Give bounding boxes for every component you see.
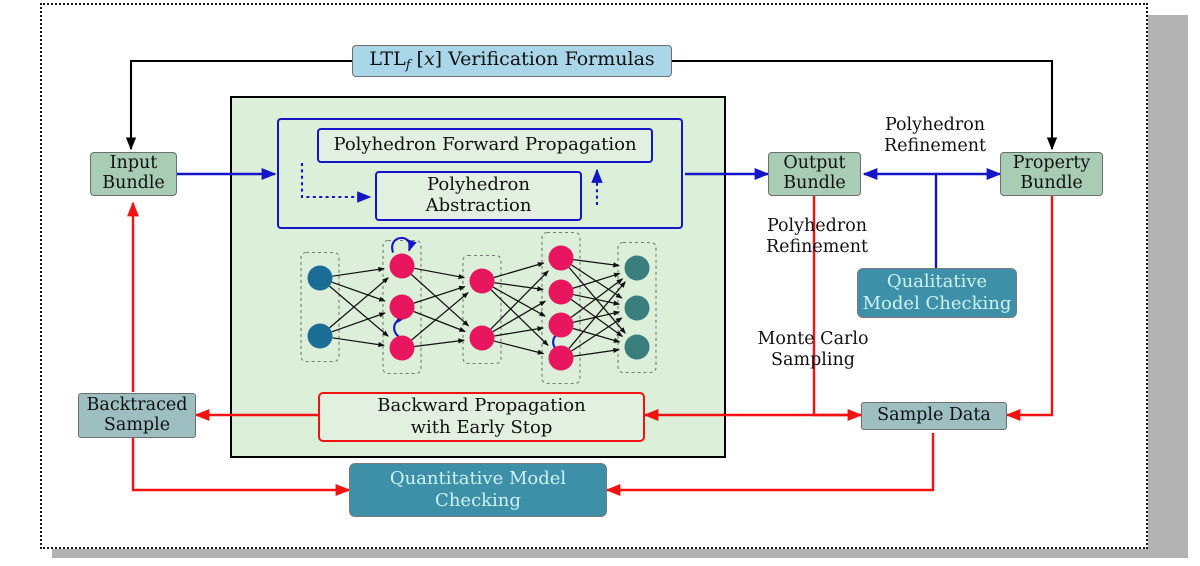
output-bundle-line2: Bundle [783,174,846,194]
forward-propagation-label: Polyhedron Forward Propagation [333,135,636,156]
property-bundle-line1: Property [1013,154,1091,174]
abstraction-line1: Polyhedron [427,175,530,196]
backward-propagation-line2: with Early Stop [411,417,553,439]
input-bundle-line2: Bundle [102,174,165,194]
mc-line1: Monte Carlo [738,329,888,350]
sample-data-box[interactable]: Sample Data [861,402,1007,430]
label-polyhedron-refinement-top: Polyhedron Refinement [860,115,1010,158]
backtraced-sample-line1: Backtraced [87,396,188,416]
pr-top-line2: Refinement [860,136,1010,157]
label-monte-carlo-sampling: Monte Carlo Sampling [738,329,888,372]
qualitative-model-checking-box[interactable]: Qualitative Model Checking [857,268,1017,318]
input-bundle-line1: Input [110,154,158,174]
backward-propagation-line1: Backward Propagation [377,395,585,417]
abstraction-line2: Abstraction [426,196,532,217]
pr-top-line1: Polyhedron [860,115,1010,136]
quantitative-line1: Quantitative Model [390,468,566,490]
backward-propagation-box[interactable]: Backward Propagation with Early Stop [318,392,645,442]
quantitative-line2: Checking [435,490,521,512]
label-polyhedron-refinement-left: Polyhedron Refinement [742,216,892,259]
diagram-canvas: LTLf [x] Verification Formulas Input Bun… [0,0,1200,566]
quantitative-model-checking-box[interactable]: Quantitative Model Checking [349,463,607,517]
polyhedron-abstraction-box[interactable]: Polyhedron Abstraction [375,171,582,221]
property-bundle-box[interactable]: Property Bundle [1000,152,1103,196]
input-bundle-box[interactable]: Input Bundle [90,152,177,196]
pr-left-line2: Refinement [742,237,892,258]
property-bundle-line2: Bundle [1020,174,1083,194]
pr-left-line1: Polyhedron [742,216,892,237]
backtraced-sample-box[interactable]: Backtraced Sample [78,393,196,438]
qualitative-line2: Model Checking [863,293,1012,315]
polyhedron-forward-propagation-box[interactable]: Polyhedron Forward Propagation [317,128,653,163]
ltl-verification-formulas-box[interactable]: LTLf [x] Verification Formulas [352,45,672,77]
backtraced-sample-line2: Sample [104,416,170,436]
network-nodes [308,246,650,371]
ltl-label: LTLf [x] Verification Formulas [369,48,654,73]
output-bundle-box[interactable]: Output Bundle [768,152,861,196]
qualitative-line1: Qualitative [887,271,987,293]
mc-line2: Sampling [738,350,888,371]
sample-data-label: Sample Data [877,406,991,426]
output-bundle-line1: Output [783,154,845,174]
